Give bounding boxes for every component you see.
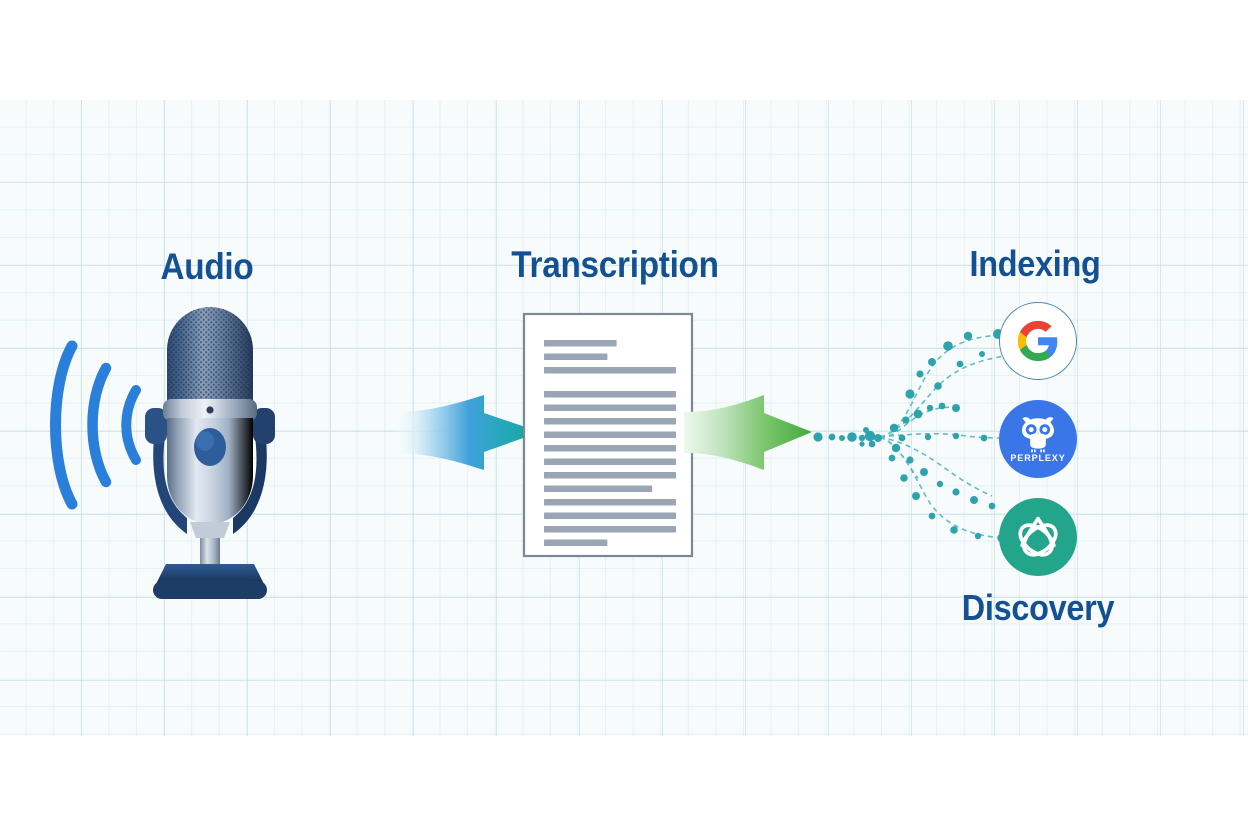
arrow-audio-to-transcription xyxy=(392,386,542,478)
arrow-transcription-to-indexing xyxy=(684,386,814,478)
owl-icon xyxy=(1018,415,1058,453)
document-text-line xyxy=(544,499,676,506)
atom-logo[interactable] xyxy=(999,498,1077,576)
network-graph xyxy=(806,320,1016,570)
document-text-line xyxy=(544,445,676,452)
document-text-line xyxy=(544,367,676,374)
stage-label-indexing: Indexing xyxy=(941,242,1130,286)
document-text-line xyxy=(544,432,676,439)
document-text-line xyxy=(544,354,607,361)
stage-label-audio: Audio xyxy=(108,245,306,289)
document-text-line xyxy=(544,486,652,493)
document-text-line xyxy=(544,418,676,425)
diagram-canvas: Audio Transcription Indexing Discovery xyxy=(0,0,1248,832)
document-text-line xyxy=(544,513,676,520)
document-text-line xyxy=(544,340,617,347)
document-text-line xyxy=(544,472,676,479)
document-text-line xyxy=(544,459,676,466)
atom-orbit-icon xyxy=(1013,512,1063,562)
transcript-document xyxy=(522,312,698,560)
perplexy-logo[interactable]: PERPLEXY xyxy=(999,400,1077,478)
document-text-line xyxy=(544,405,676,412)
perplexy-wordmark: PERPLEXY xyxy=(1010,454,1065,463)
google-g-icon xyxy=(1016,319,1060,363)
stage-label-transcription: Transcription xyxy=(467,243,764,287)
microphone-icon xyxy=(140,296,280,616)
document-text-line xyxy=(544,540,607,547)
document-text-line xyxy=(544,391,676,398)
google-logo[interactable] xyxy=(999,302,1077,380)
stage-label-discovery: Discovery xyxy=(936,586,1139,630)
document-text-line xyxy=(544,526,676,533)
